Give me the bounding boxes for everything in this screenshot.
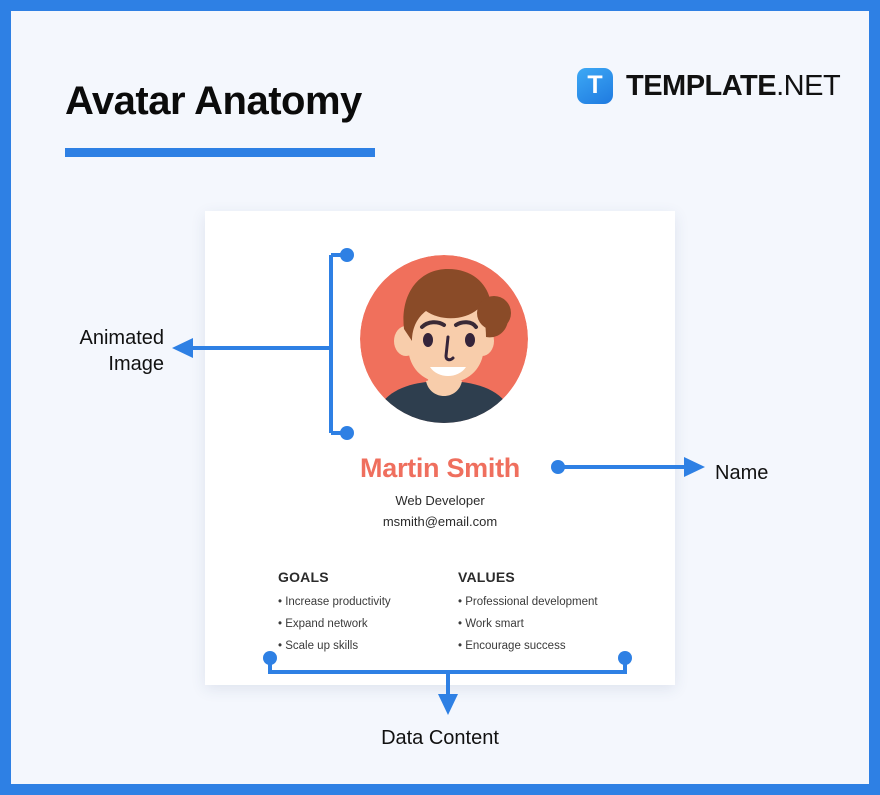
- callout-label-name: Name: [715, 461, 768, 487]
- avatar: [360, 255, 528, 423]
- values-column: VALUES • Professional development • Work…: [458, 569, 618, 662]
- callout-label-data-content: Data Content: [11, 726, 869, 752]
- list-item: • Expand network: [278, 618, 458, 630]
- avatar-card: Martin Smith Web Developer msmith@email.…: [205, 211, 675, 685]
- list-item: • Encourage success: [458, 640, 618, 652]
- title-underline-rule: [65, 148, 375, 157]
- page-title: Avatar Anatomy: [65, 79, 362, 124]
- values-heading: VALUES: [458, 569, 618, 585]
- callout-label-animated-image: Animated Image: [21, 326, 164, 377]
- template-logo-icon: T: [577, 68, 613, 104]
- arrowhead-left-icon: [172, 338, 193, 358]
- brand-logo: T TEMPLATE.NET: [577, 68, 840, 104]
- callout-line-1: Animated: [21, 326, 164, 352]
- card-columns: GOALS • Increase productivity • Expand n…: [278, 569, 618, 662]
- callout-line-2: Image: [21, 352, 164, 378]
- arrowhead-down-icon: [438, 694, 458, 715]
- list-item: • Scale up skills: [278, 640, 458, 652]
- brand-name-tld: .NET: [776, 70, 840, 102]
- goals-heading: GOALS: [278, 569, 458, 585]
- brand-name-bold: TEMPLATE: [626, 70, 776, 102]
- goals-column: GOALS • Increase productivity • Expand n…: [278, 569, 458, 662]
- person-name: Martin Smith: [205, 453, 675, 484]
- list-item: • Increase productivity: [278, 596, 458, 608]
- avatar-illustration-icon: [360, 255, 528, 423]
- arrowhead-right-icon: [684, 457, 705, 477]
- list-item: • Work smart: [458, 618, 618, 630]
- list-item: • Professional development: [458, 596, 618, 608]
- person-email: msmith@email.com: [205, 514, 675, 529]
- person-role: Web Developer: [205, 493, 675, 508]
- brand-wordmark: TEMPLATE.NET: [626, 70, 840, 103]
- poster-page: Avatar Anatomy T TEMPLATE.NET: [11, 11, 869, 784]
